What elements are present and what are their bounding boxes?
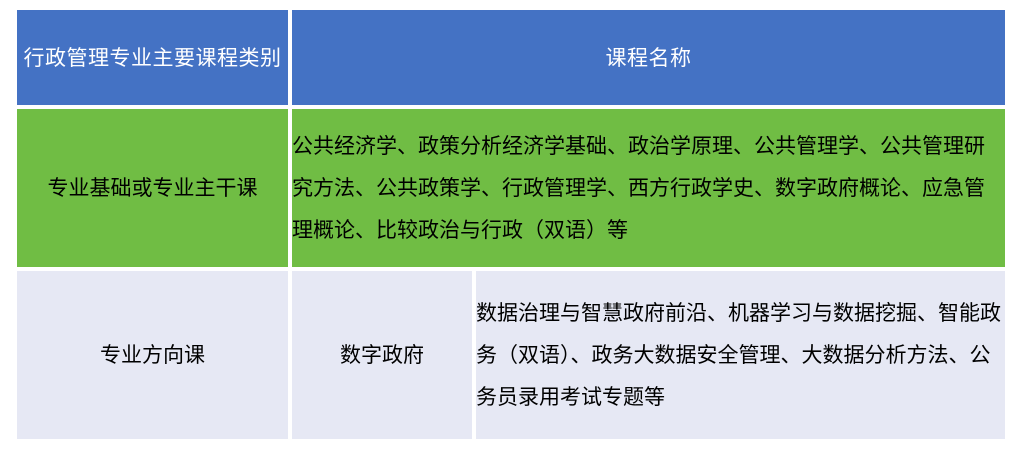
cell-direction-digital-government: 数字政府	[292, 271, 472, 439]
page-canvas: 行政管理专业主要课程类别 课程名称 专业基础或专业主干课 公共经济学、政策分析经…	[0, 0, 1031, 455]
table-row: 专业方向课 数字政府 数据治理与智慧政府前沿、机器学习与数据挖掘、智能政务（双语…	[17, 271, 1005, 439]
header-cell-course-name: 课程名称	[292, 10, 1005, 105]
table-row: 专业基础或专业主干课 公共经济学、政策分析经济学基础、政治学原理、公共管理学、公…	[17, 109, 1005, 267]
cell-category-core: 专业基础或专业主干课	[17, 109, 288, 267]
cell-courses-core: 公共经济学、政策分析经济学基础、政治学原理、公共管理学、公共管理研究方法、公共政…	[292, 109, 1005, 267]
cell-category-direction: 专业方向课	[17, 271, 288, 439]
table-header-row: 行政管理专业主要课程类别 课程名称	[17, 10, 1005, 105]
header-cell-category: 行政管理专业主要课程类别	[17, 10, 288, 105]
course-category-table: 行政管理专业主要课程类别 课程名称 专业基础或专业主干课 公共经济学、政策分析经…	[17, 10, 1005, 439]
cell-courses-direction: 数据治理与智慧政府前沿、机器学习与数据挖掘、智能政务（双语）、政务大数据安全管理…	[476, 271, 1005, 439]
